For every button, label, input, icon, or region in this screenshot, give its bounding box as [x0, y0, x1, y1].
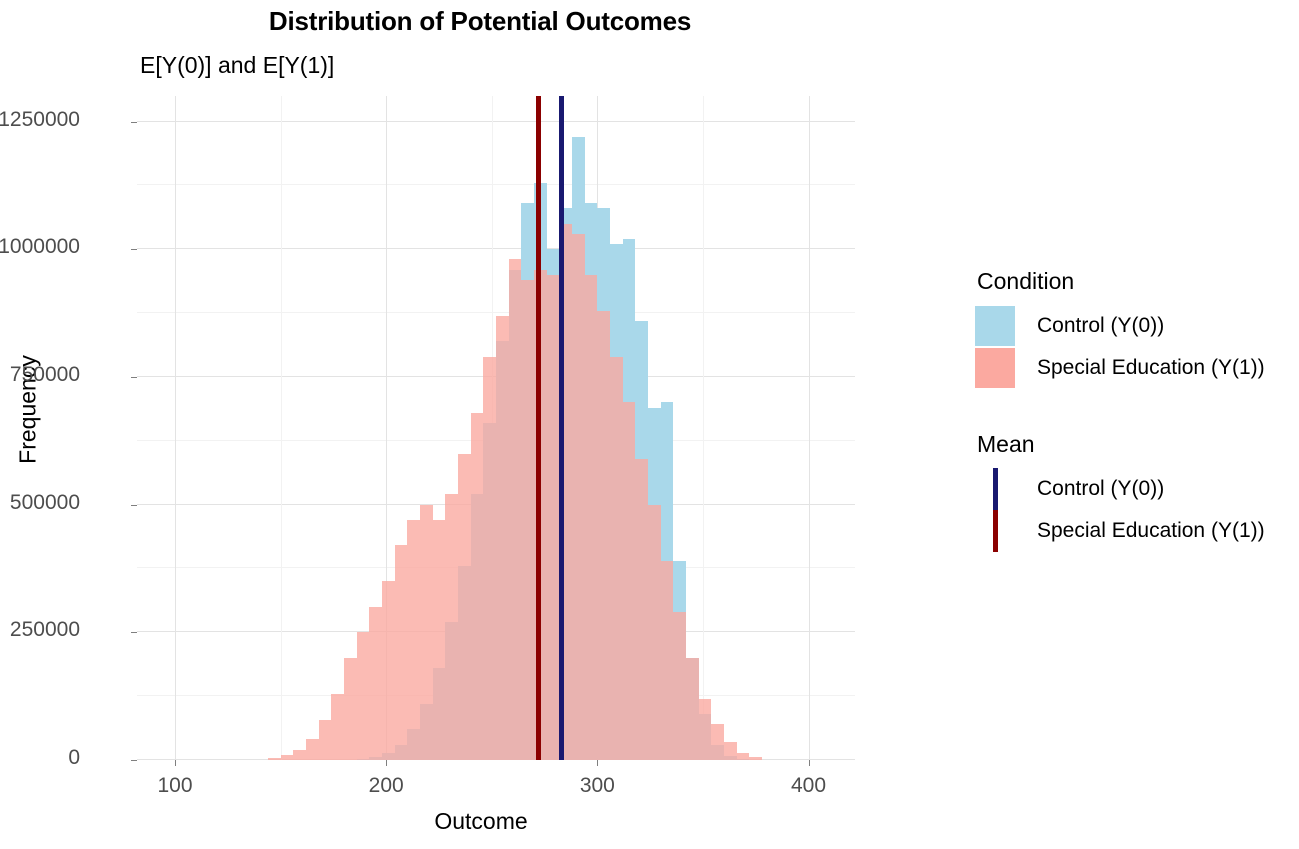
histogram-bar	[572, 234, 585, 760]
histogram-bar	[293, 750, 306, 760]
histogram-bar	[547, 275, 560, 760]
histogram-bar	[445, 494, 458, 760]
histogram-bar	[509, 259, 522, 760]
x-tick-label: 200	[341, 774, 431, 798]
legend-item[interactable]: Special Education (Y(1))	[975, 510, 1295, 552]
mean-line	[559, 96, 564, 760]
histogram-bar	[281, 755, 294, 760]
legend-item[interactable]: Control (Y(0))	[975, 468, 1295, 510]
mean-line	[536, 96, 541, 760]
x-tick-label: 400	[764, 774, 854, 798]
histogram-bar	[496, 316, 509, 760]
x-tick-mark	[597, 760, 598, 766]
histogram-bar	[686, 658, 699, 760]
y-tick-label: 1250000	[0, 108, 80, 132]
y-axis-title: Frequency	[15, 320, 42, 500]
histogram-bar	[407, 520, 420, 760]
histogram-bar	[471, 413, 484, 760]
y-tick-label: 250000	[10, 618, 80, 642]
legend-line-key	[975, 510, 1015, 552]
legend-item-label: Special Education (Y(1))	[1037, 519, 1265, 543]
legend-item[interactable]: Control (Y(0))	[975, 305, 1295, 347]
histogram-bar	[483, 357, 496, 761]
histogram-bar	[724, 742, 737, 760]
histogram-bar	[306, 739, 319, 760]
x-axis-title: Outcome	[137, 808, 825, 835]
histogram-bar	[661, 561, 674, 760]
histogram-bar	[369, 607, 382, 760]
histogram-bar	[344, 658, 357, 760]
histogram-series-special-education	[137, 96, 855, 760]
histogram-bar	[737, 753, 750, 760]
chart-title: Distribution of Potential Outcomes	[0, 6, 960, 37]
y-tick-label: 750000	[10, 363, 80, 387]
histogram-bar	[610, 357, 623, 761]
histogram-bar	[268, 758, 281, 760]
x-tick-label: 300	[552, 774, 642, 798]
legend-item-label: Special Education (Y(1))	[1037, 356, 1265, 380]
histogram-bar	[699, 699, 712, 760]
histogram-bar	[711, 724, 724, 760]
legend-group-title: Condition	[977, 268, 1295, 295]
histogram-bar	[635, 459, 648, 760]
histogram-bar	[395, 545, 408, 760]
legend-color-swatch	[975, 306, 1015, 346]
y-tick-mark	[131, 760, 137, 761]
histogram-bar	[420, 505, 433, 760]
histogram-bar	[623, 402, 636, 760]
histogram-bar	[749, 757, 762, 760]
histogram-bar	[648, 505, 661, 760]
histogram-bar	[357, 632, 370, 760]
legend-color-swatch	[975, 348, 1015, 388]
histogram-bar	[521, 280, 534, 760]
legend-item-label: Control (Y(0))	[1037, 477, 1164, 501]
y-tick-label: 1000000	[0, 235, 80, 259]
x-tick-mark	[386, 760, 387, 766]
plot-panel	[137, 96, 855, 760]
legend-group-condition: ConditionControl (Y(0))Special Education…	[975, 268, 1295, 389]
x-tick-mark	[175, 760, 176, 766]
histogram-bar	[597, 311, 610, 760]
histogram-bar	[673, 612, 686, 760]
legend-item-label: Control (Y(0))	[1037, 314, 1164, 338]
y-tick-label: 500000	[10, 491, 80, 515]
histogram-bar	[319, 720, 332, 760]
histogram-bar	[585, 275, 598, 760]
chart-root: Distribution of Potential Outcomes E[Y(0…	[0, 0, 1299, 849]
histogram-bar	[433, 520, 446, 760]
x-tick-mark	[809, 760, 810, 766]
legend-group-title: Mean	[977, 431, 1295, 458]
legend-group-mean: MeanControl (Y(0))Special Education (Y(1…	[975, 431, 1295, 552]
y-tick-label: 0	[68, 746, 80, 770]
histogram-bar	[331, 694, 344, 760]
chart-subtitle: E[Y(0)] and E[Y(1)]	[140, 52, 334, 79]
histogram-bar	[458, 454, 471, 760]
x-tick-label: 100	[130, 774, 220, 798]
legend-item[interactable]: Special Education (Y(1))	[975, 347, 1295, 389]
histogram-bar	[382, 581, 395, 760]
legend: ConditionControl (Y(0))Special Education…	[975, 268, 1295, 594]
legend-line-key	[975, 468, 1015, 510]
